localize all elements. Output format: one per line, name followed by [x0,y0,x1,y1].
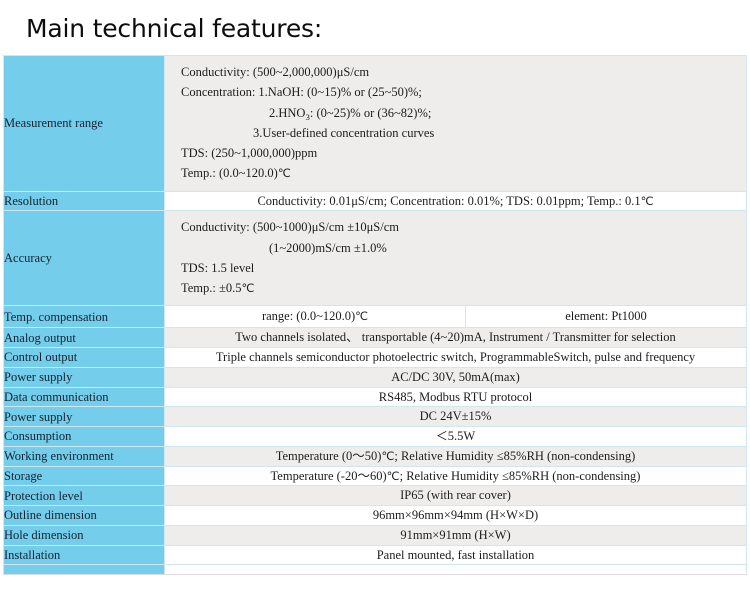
table-row: Working environmentTemperature (0〜50)℃; … [4,446,747,466]
row-value: Temperature (0〜50)℃; Relative Humidity ≤… [165,446,747,466]
value-line: (1~2000)mS/cm ±1.0% [181,238,738,258]
table-row: AccuracyConductivity: (500~1000)μS/cm ±1… [4,211,747,306]
table-row: InstallationPanel mounted, fast installa… [4,545,747,565]
row-value: 91mm×91mm (H×W) [165,525,747,545]
value-range: range: (0.0~120.0)℃ [165,306,466,327]
row-label: Storage [4,466,165,486]
value-line: 2.HNO3: (0~25)% or (36~82)%; [181,103,738,123]
value-line: 3.User-defined concentration curves [181,123,738,143]
technical-features-table: Measurement rangeConductivity: (500~2,00… [3,55,747,575]
table-row: Control outputTriple channels semiconduc… [4,348,747,368]
row-label: Accuracy [4,211,165,306]
row-label: Power supply [4,367,165,387]
row-value: Conductivity: 0.01μS/cm; Concentration: … [165,191,747,211]
value-line: Conductivity: (500~1000)μS/cm ±10μS/cm [181,217,738,237]
row-value [165,565,747,575]
table-row: Hole dimension91mm×91mm (H×W) [4,525,747,545]
table-row: Power supplyAC/DC 30V, 50mA(max) [4,367,747,387]
row-value: Two channels isolated、 transportable (4~… [165,328,747,348]
row-label [4,565,165,575]
row-value: AC/DC 30V, 50mA(max) [165,367,747,387]
row-label: Working environment [4,446,165,466]
page-title: Main technical features: [0,0,750,44]
table-row: Protection levelIP65 (with rear cover) [4,486,747,506]
row-value: 96mm×96mm×94mm (H×W×D) [165,506,747,526]
value-line: Concentration: 1.NaOH: (0~15)% or (25~50… [181,82,738,102]
row-label: Temp. compensation [4,306,165,328]
table-row: Power supplyDC 24V±15% [4,407,747,427]
row-label: Analog output [4,328,165,348]
row-value: ＜5.5W [165,427,747,447]
row-value: RS485, Modbus RTU protocol [165,387,747,407]
row-value: Conductivity: (500~1000)μS/cm ±10μS/cm(1… [165,211,747,306]
value-line: Temp.: ±0.5℃ [181,278,738,298]
row-value: Panel mounted, fast installation [165,545,747,565]
row-label: Control output [4,348,165,368]
row-value: Temperature (-20〜60)℃; Relative Humidity… [165,466,747,486]
table-row: Consumption＜5.5W [4,427,747,447]
row-label: Consumption [4,427,165,447]
table-row: StorageTemperature (-20〜60)℃; Relative H… [4,466,747,486]
row-label: Resolution [4,191,165,211]
table-row: Data communicationRS485, Modbus RTU prot… [4,387,747,407]
value-element: element: Pt1000 [466,306,746,327]
row-value: range: (0.0~120.0)℃element: Pt1000 [165,306,747,328]
row-label: Protection level [4,486,165,506]
row-label: Measurement range [4,56,165,192]
table-row: Analog outputTwo channels isolated、 tran… [4,328,747,348]
spec-table-container: Measurement rangeConductivity: (500~2,00… [0,55,750,575]
row-label: Outline dimension [4,506,165,526]
row-value: Triple channels semiconductor photoelect… [165,348,747,368]
table-row: Outline dimension96mm×96mm×94mm (H×W×D) [4,506,747,526]
table-row-clipped [4,565,747,575]
row-value: IP65 (with rear cover) [165,486,747,506]
row-label: Power supply [4,407,165,427]
table-row: Temp. compensationrange: (0.0~120.0)℃ele… [4,306,747,328]
value-line: TDS: 1.5 level [181,258,738,278]
row-label: Hole dimension [4,525,165,545]
value-line: Conductivity: (500~2,000,000)μS/cm [181,62,738,82]
table-row: ResolutionConductivity: 0.01μS/cm; Conce… [4,191,747,211]
row-value: DC 24V±15% [165,407,747,427]
value-line: TDS: (250~1,000,000)ppm [181,143,738,163]
table-row: Measurement rangeConductivity: (500~2,00… [4,56,747,192]
row-label: Installation [4,545,165,565]
row-label: Data communication [4,387,165,407]
value-line: Temp.: (0.0~120.0)℃ [181,163,738,183]
row-value: Conductivity: (500~2,000,000)μS/cmConcen… [165,56,747,192]
